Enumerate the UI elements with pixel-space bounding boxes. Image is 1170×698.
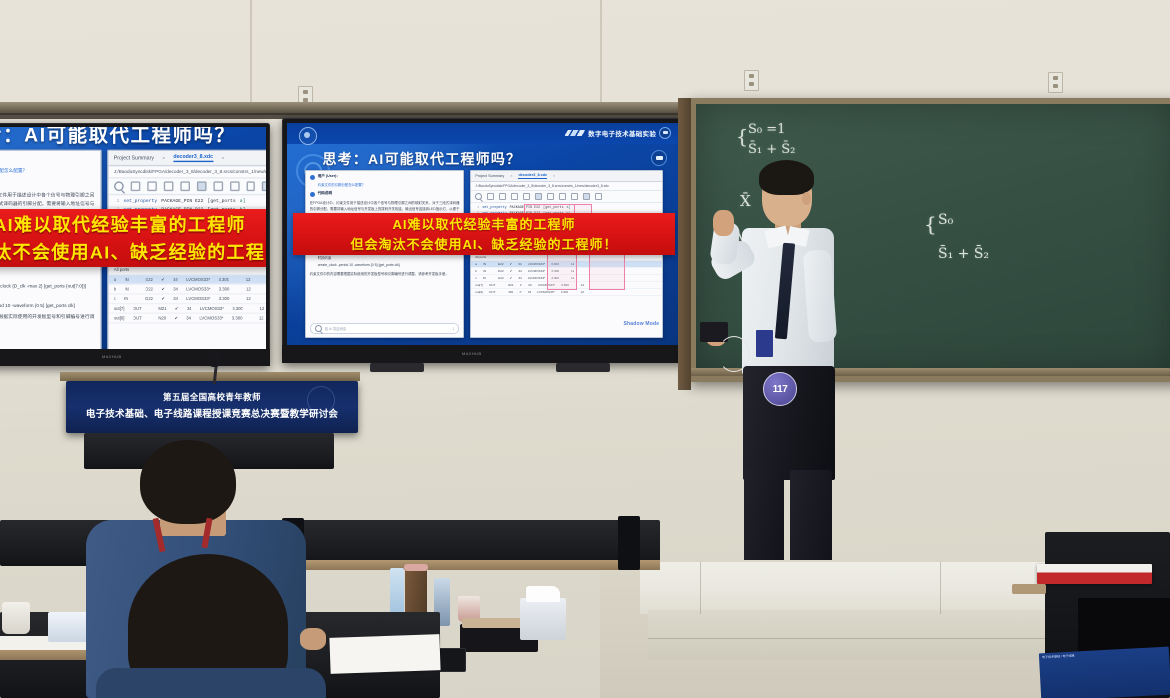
- desk-top-mid: [300, 560, 660, 570]
- audience-1-head: [140, 440, 236, 524]
- tab-project-summary[interactable]: Project Summary: [475, 174, 504, 178]
- table-row[interactable]: All ports: [471, 254, 662, 261]
- table-cell-name: All ports: [475, 255, 486, 259]
- table-cell-name: b: [114, 286, 116, 292]
- table-cell-name: out[6]: [475, 290, 483, 294]
- chalk-note-2: S₀ =1: [748, 122, 785, 137]
- chat-heading-row: 用户 (User)：: [310, 174, 460, 180]
- code-get-ports: [get_ports: [208, 197, 236, 206]
- chat-code-hint-2: 时钟约束: [318, 256, 460, 262]
- table-cell-pin: M21: [158, 306, 166, 312]
- table-cell-std: LVCMOS33*: [186, 286, 210, 292]
- ide-file-path: J:/BaoduSyncdisk/FPGA/decoder_3_8/decode…: [108, 166, 266, 178]
- table-cell-name: c: [475, 276, 477, 280]
- table-cell-fixed: ✔: [510, 276, 513, 280]
- door-frame: [678, 98, 691, 390]
- edit-icon[interactable]: [246, 181, 256, 191]
- table-cell-drive: 12: [580, 290, 583, 294]
- chat-code-hint-1: 输出延时约束: [0, 274, 94, 282]
- panel-icon[interactable]: [583, 193, 590, 200]
- table-row[interactable]: bIND22✔34LVCMOS33*3.30012: [471, 268, 662, 275]
- chat-link-1: 约束文件的引脚分配怎么配置？: [0, 167, 94, 174]
- table-cell-fixed: ✔: [510, 262, 513, 266]
- table-cell-pin: D22: [498, 269, 504, 273]
- table-cell-drive: 12: [246, 286, 251, 292]
- table-cell-bank: 34: [173, 277, 178, 283]
- bullet-dot-icon-2: [310, 192, 315, 197]
- slide-title: 思考：AI可能取代工程师吗？: [322, 149, 521, 169]
- save-icon[interactable]: [130, 181, 140, 191]
- close-icon-2[interactable]: ×: [553, 174, 555, 178]
- brand-label: 数字电子技术基础实验: [588, 128, 656, 138]
- send-icon[interactable]: ↓: [452, 326, 455, 332]
- table-row[interactable]: aINE22✔34LVCMOS33*3.30012: [471, 261, 662, 268]
- main-display-brand-label: MAXHUB: [462, 351, 482, 356]
- table-cell-dir: IN: [483, 269, 486, 273]
- table-cell-fixed: ✔: [175, 306, 179, 312]
- table-cell-dir: IN: [483, 262, 486, 266]
- table-cell-bank: 34: [518, 262, 521, 266]
- paste-icon[interactable]: [547, 193, 554, 200]
- display-mount-bracket: [370, 363, 424, 372]
- table-cell-vcco: 3.300: [219, 286, 230, 292]
- chat-heading-row-2: 代码说明: [0, 178, 94, 186]
- chat-input[interactable]: 给 AI 发送消息 ↓: [310, 323, 460, 334]
- table-cell-pin: N20: [158, 315, 166, 321]
- banner-line-2: 但会淘汰不会使用AI、缺乏经验的工程师！: [350, 234, 617, 253]
- redo-icon[interactable]: [511, 193, 518, 200]
- wall-seam: [250, 0, 252, 106]
- table-cell-std: LVCMOS33*: [186, 296, 210, 302]
- table-cell-drive: 12: [259, 306, 264, 312]
- copy-icon[interactable]: [196, 181, 206, 191]
- code-line-number: 1: [112, 197, 119, 206]
- chalk-note-3: S̄₁ + S̄₂: [748, 142, 795, 157]
- table-cell-name: a: [114, 277, 116, 283]
- table-cell-drive: 12: [571, 269, 574, 273]
- chat-footer-note: 约束文件中的内容需要根据实际使用的开发板型号和引脚编号进行调整，请参考开发板手册…: [0, 313, 94, 330]
- table-cell-name: All ports: [114, 267, 129, 273]
- code-line: 1set_propertyPACKAGE_PIN E22[get_portsa]: [108, 197, 266, 206]
- table-cell-drive: 12: [581, 283, 584, 287]
- code-port-name: a]: [240, 197, 246, 206]
- table-cell-vcco: 3.300: [551, 262, 559, 266]
- main-display-bezel: 数字电子技术基础实验 思考：AI可能取代工程师吗？ 用户 (User)： 约束文…: [282, 118, 686, 363]
- table-cell-name: b: [475, 269, 477, 273]
- save-icon[interactable]: [487, 193, 494, 200]
- table-cell-fixed: ✔: [161, 277, 165, 283]
- wall-socket-2: [744, 70, 759, 91]
- table-cell-bank: 34: [528, 283, 531, 287]
- table-cell-vcco: 3.300: [232, 315, 243, 321]
- main-slide: 数字电子技术基础实验 思考：AI可能取代工程师吗？ 用户 (User)： 约束文…: [287, 123, 681, 345]
- help-icon[interactable]: [595, 193, 602, 200]
- table-cell-fixed: ✔: [519, 290, 522, 294]
- cut-icon[interactable]: [180, 181, 190, 191]
- presenter-hair: [759, 160, 814, 195]
- chat-link-1[interactable]: 约束文件的引脚分配怎么配置？: [318, 183, 460, 188]
- table-cell-pin: D22: [145, 286, 153, 292]
- main-display-chin: [282, 345, 686, 363]
- close-icon[interactable]: ×: [162, 155, 165, 161]
- table-row[interactable]: cING22✔34LVCMOS33*3.30012: [471, 275, 662, 282]
- chat-heading-row: 用户 (User)：: [0, 155, 94, 163]
- banner-line-1: AI难以取代经验丰富的工程师: [392, 214, 575, 233]
- search-icon: [315, 325, 322, 332]
- table-row[interactable]: out[7]OUTM21✔34LVCMOS33*3.30012: [471, 282, 662, 289]
- ide-toolbar: [108, 178, 266, 195]
- cabinet-shelf: [1012, 584, 1046, 594]
- stage-tile-line: [700, 562, 701, 614]
- cut-icon[interactable]: [523, 193, 530, 200]
- code-package-pin: PACKAGE_PIN E22: [161, 197, 203, 206]
- table-cell-fixed: ✔: [520, 283, 523, 287]
- left-display-screen: 数字电子技术基础实验 思考：AI可能取代工程师吗？ 用户 (User)： 约束文…: [0, 127, 266, 349]
- chat-code-line-1: set_output_delay -clock {D_clk -max 2} […: [0, 284, 94, 292]
- table-cell-pin: G22: [145, 296, 153, 302]
- slide-brand: 数字电子技术基础实验: [565, 127, 671, 139]
- table-row[interactable]: out[6]OUTN20✔34LVCMOS33*3.30012: [108, 314, 266, 324]
- table-cell-dir: OUT: [133, 306, 142, 312]
- thermos-lid: [404, 564, 428, 571]
- table-cell-name: out[7]: [475, 283, 483, 287]
- tab-decoder-xdc[interactable]: decoder3_8.xdc: [173, 153, 213, 161]
- table-cell-drive: 12: [246, 277, 251, 283]
- table-cell-std: LVCMOS33*: [528, 262, 545, 266]
- chat-footer-note: 约束文件中的内容需要根据实际使用的开发板型号和引脚编号进行调整，请参考开发板手册…: [310, 271, 460, 277]
- table-cell-drive: 12: [259, 315, 264, 321]
- presenter-hand-left: [713, 210, 734, 236]
- table-cell-dir: OUT: [489, 283, 496, 287]
- table-cell-bank: 34: [528, 290, 531, 294]
- table-cell-std: LVCMOS33*: [528, 269, 545, 273]
- table-cell-pin: M21: [508, 283, 514, 287]
- bullet-dot-icon: [310, 175, 315, 180]
- chat-heading-1: 用户 (User)：: [318, 174, 340, 179]
- table-cell-std: LVCMOS33*: [537, 290, 554, 294]
- table-cell-name: a: [475, 262, 477, 266]
- shadow-mode-watermark: Shadow Mode: [623, 321, 659, 327]
- table-cell-name: out[6]: [114, 315, 125, 321]
- chat-code-line-2: create_clock -period 10 -waveform {0 5} …: [318, 263, 460, 269]
- desk-divider-2: [618, 516, 640, 570]
- table-cell-bank: 34: [173, 296, 178, 302]
- presenter-badge-card: [756, 330, 773, 357]
- banner-line-2: 但会淘汰不会使用AI、缺乏经验的工程师！: [0, 239, 266, 265]
- table-cell-drive: 12: [571, 276, 574, 280]
- redo-icon[interactable]: [163, 181, 173, 191]
- podium: 第五届全国高校青年教师 电子技术基础、电子线路课程授课竞赛总决赛暨教学研讨会: [66, 381, 358, 433]
- tissue-box: [520, 598, 566, 640]
- close-icon[interactable]: ×: [510, 174, 512, 178]
- ide-table-body: All portsaINE22✔34LVCMOS33*3.30012bIND22…: [471, 254, 662, 296]
- table-cell-vcco: 3.300: [218, 277, 229, 283]
- main-display-screen: 数字电子技术基础实验 思考：AI可能取代工程师吗？ 用户 (User)： 约束文…: [287, 123, 681, 345]
- paper-cup-front: [2, 602, 30, 634]
- blue-info-card: 电子技术基础 / 电子线路: [1039, 647, 1170, 698]
- presenter-ear: [802, 192, 811, 205]
- audience-2-hand: [300, 628, 326, 650]
- chat-heading-2: 代码说明: [318, 191, 332, 196]
- table-cell-vcco: 3.300: [561, 290, 569, 294]
- red-book: [1037, 564, 1152, 584]
- table-cell-fixed: ✔: [161, 296, 165, 302]
- table-cell-fixed: ✔: [161, 286, 165, 292]
- banner-line-1: AI难以取代经验丰富的工程师: [0, 211, 246, 237]
- speaker-icon[interactable]: [651, 150, 667, 166]
- brand-badge-icon: [659, 127, 671, 139]
- table-cell-std: LVCMOS33*: [528, 276, 545, 280]
- undo-icon[interactable]: [147, 181, 157, 191]
- table-cell-dir: IN: [483, 276, 486, 280]
- table-cell-dir: OUT: [489, 290, 496, 294]
- table-cell-drive: 12: [571, 262, 574, 266]
- chat-heading-row-2: 代码说明: [310, 191, 460, 197]
- chalk-note-1: {: [736, 126, 748, 148]
- table-cell-fixed: ✔: [174, 315, 178, 321]
- tab-project-summary[interactable]: Project Summary: [114, 155, 154, 161]
- chalk-note-7: S₀: [938, 212, 953, 228]
- chat-input-placeholder: 给 AI 发送消息: [325, 326, 346, 331]
- left-slide: 数字电子技术基础实验 思考：AI可能取代工程师吗？ 用户 (User)： 约束文…: [0, 127, 266, 349]
- podium-surface: [60, 372, 360, 381]
- table-cell-pin: E22: [145, 277, 153, 283]
- wall-socket-3: [1048, 72, 1063, 93]
- table-cell-std: LVCMOS33*: [200, 306, 224, 312]
- chat-code-line-2: create_clock -period 10 -waveform {0 5} …: [0, 302, 94, 310]
- stage-tile-line-2: [940, 562, 941, 614]
- ide-file-path: J:/BaoduSyncdisk/FPGA/decoder_3_8/decode…: [471, 182, 662, 191]
- table-cell-vcco: 3.300: [551, 276, 559, 280]
- badge-number: 117: [773, 384, 788, 395]
- paper-sheet: [329, 634, 440, 674]
- chalk-note-4: X̄: [740, 192, 751, 210]
- table-cell-bank: 34: [187, 306, 192, 312]
- tab-decoder-xdc[interactable]: decoder3_8.xdc: [518, 173, 547, 179]
- table-cell-vcco: 3.300: [219, 296, 230, 302]
- left-display-brand-label: MAXHUB: [102, 354, 122, 359]
- table-cell-name: c: [114, 296, 116, 302]
- table-cell-fixed: ✔: [510, 269, 513, 273]
- presenter-number-badge: 117: [763, 372, 797, 406]
- chat-code-hint-2: 时钟约束: [0, 293, 94, 301]
- ide-tab-bar: Project Summary × decoder3_8.xdc ×: [108, 151, 266, 166]
- display-mount-bracket-2: [556, 363, 610, 372]
- table-cell-vcco: 3.300: [561, 283, 569, 287]
- table-cell-pin: E22: [498, 262, 504, 266]
- table-cell-bank: 34: [186, 315, 191, 321]
- edit-icon[interactable]: [571, 193, 578, 200]
- left-display-bezel: 数字电子技术基础实验 思考：AI可能取代工程师吗？ 用户 (User)： 约束文…: [0, 123, 270, 366]
- tissue-sheet: [526, 586, 560, 602]
- table-cell-bank: 34: [173, 286, 178, 292]
- small-box-front: [48, 612, 90, 642]
- code-command: set_property: [123, 197, 157, 206]
- lecture-hall-screenshot: 数字电子技术基础实验 思考：AI可能取代工程师吗？ 用户 (User)： 约束文…: [0, 0, 1170, 698]
- copy-icon[interactable]: [535, 193, 542, 200]
- paste-icon[interactable]: [213, 181, 223, 191]
- table-row[interactable]: out[6]OUTN20✔34LVCMOS33*3.30012: [471, 289, 662, 296]
- table-cell-pin: N20: [508, 290, 514, 294]
- delete-icon[interactable]: [229, 181, 239, 191]
- table-row[interactable]: out[7]OUTM21✔34LVCMOS33*3.30012: [108, 304, 266, 314]
- search-icon[interactable]: [475, 193, 482, 200]
- table-cell-std: LVCMOS33*: [199, 315, 223, 321]
- search-icon[interactable]: [114, 181, 124, 191]
- chalk-note-8: S̄₁ + S̄₂: [938, 246, 989, 262]
- panel-icon[interactable]: [262, 181, 266, 191]
- ide-tab-bar: Project Summary × decoder3_8.xdc ×: [471, 171, 662, 182]
- audience-2-shoulder: [96, 668, 326, 698]
- table-row[interactable]: All ports: [108, 266, 266, 276]
- table-cell-vcco: 3.300: [232, 306, 243, 312]
- wall-seam-2: [600, 0, 602, 104]
- table-cell-std: LVCMOS33*: [186, 277, 210, 283]
- table-row[interactable]: aINE22✔34LVCMOS33*3.30012: [108, 275, 266, 285]
- ide-table-body: All portsaINE22✔34LVCMOS33*3.30012bIND22…: [108, 266, 266, 324]
- table-cell-bank: 34: [518, 269, 521, 273]
- chalk-note-6: {: [924, 212, 937, 236]
- ide-toolbar: [471, 191, 662, 203]
- left-red-banner: AI难以取代经验丰富的工程师 但会淘汰不会使用AI、缺乏经验的工程师！: [0, 209, 266, 267]
- table-cell-dir: OUT: [133, 315, 142, 321]
- table-cell-std: LVCMOS33*: [538, 283, 555, 287]
- podium-banner-line-1: 第五届全国高校青年教师: [66, 391, 358, 403]
- left-slide-title: 思考：AI可能取代工程师吗？: [0, 127, 236, 148]
- undo-icon[interactable]: [499, 193, 506, 200]
- close-icon-2[interactable]: ×: [221, 155, 224, 161]
- table-row[interactable]: bIND22✔34LVCMOS33*3.30012: [108, 285, 266, 295]
- red-banner: AI难以取代经验丰富的工程师 但会淘汰不会使用AI、缺乏经验的工程师！: [293, 213, 675, 255]
- table-cell-bank: 34: [518, 276, 521, 280]
- table-row[interactable]: cING22✔34LVCMOS33*3.30012: [108, 295, 266, 305]
- delete-icon[interactable]: [559, 193, 566, 200]
- podium-banner-line-2: 电子技术基础、电子线路课程授课竞赛总决赛暨教学研讨会: [66, 406, 358, 420]
- microphone: [208, 350, 221, 367]
- table-cell-dir: IN: [124, 296, 128, 302]
- table-cell-pin: G22: [498, 276, 504, 280]
- table-cell-dir: IN: [124, 277, 128, 283]
- swoosh-icon: [564, 130, 586, 136]
- table-cell-dir: IN: [124, 286, 128, 292]
- left-display-chin: [0, 349, 270, 366]
- table-cell-name: out[7]: [114, 306, 125, 312]
- table-cell-drive: 12: [246, 296, 251, 302]
- table-cell-vcco: 3.300: [551, 269, 559, 273]
